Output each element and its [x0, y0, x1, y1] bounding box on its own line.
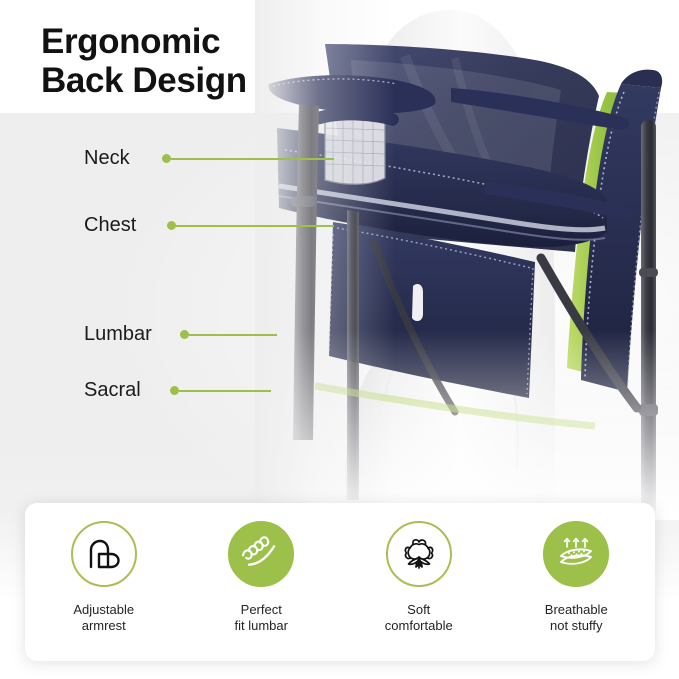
feature-card: Adjustable armrest Perfect fit lumbar: [25, 503, 655, 661]
callout-lumbar-label: Lumbar: [84, 323, 180, 346]
page-title: Ergonomic Back Design: [41, 22, 247, 100]
lumbar-coil-icon-badge: [228, 521, 294, 587]
callout-lumbar-dot: [180, 330, 189, 339]
lumbar-coil-icon: [242, 535, 280, 573]
callout-chest-line: [176, 225, 334, 227]
callout-chest-label: Chest: [84, 214, 167, 237]
feature-soft-comfortable[interactable]: Soft comfortable: [344, 521, 494, 634]
breathable-fabric-icon-badge: [543, 521, 609, 587]
callout-neck-line: [171, 158, 334, 160]
feature-caption: Soft comfortable: [385, 602, 453, 634]
callout-sacral-label: Sacral: [84, 379, 170, 402]
callout-neck-label: Neck: [84, 147, 162, 170]
infographic-canvas: Ergonomic Back Design Neck Chest Lumbar …: [0, 0, 679, 679]
cotton-boll-icon: [400, 535, 438, 573]
breathable-fabric-icon: [556, 535, 596, 573]
feature-caption: Adjustable armrest: [73, 602, 134, 634]
callout-neck: Neck: [84, 147, 334, 170]
feature-adjustable-armrest[interactable]: Adjustable armrest: [29, 521, 179, 634]
callout-sacral: Sacral: [84, 379, 271, 402]
feature-breathable-not-stuffy[interactable]: Breathable not stuffy: [501, 521, 651, 634]
callout-sacral-line: [179, 390, 271, 392]
callout-sacral-dot: [170, 386, 179, 395]
feature-caption: Breathable not stuffy: [545, 602, 608, 634]
callout-chest: Chest: [84, 214, 334, 237]
callout-lumbar: Lumbar: [84, 323, 277, 346]
cotton-boll-icon-badge: [386, 521, 452, 587]
armrest-icon: [86, 538, 122, 570]
callout-lumbar-line: [189, 334, 277, 336]
feature-perfect-fit-lumbar[interactable]: Perfect fit lumbar: [186, 521, 336, 634]
armrest-icon-badge: [71, 521, 137, 587]
feature-caption: Perfect fit lumbar: [235, 602, 288, 634]
callout-neck-dot: [162, 154, 171, 163]
callout-chest-dot: [167, 221, 176, 230]
